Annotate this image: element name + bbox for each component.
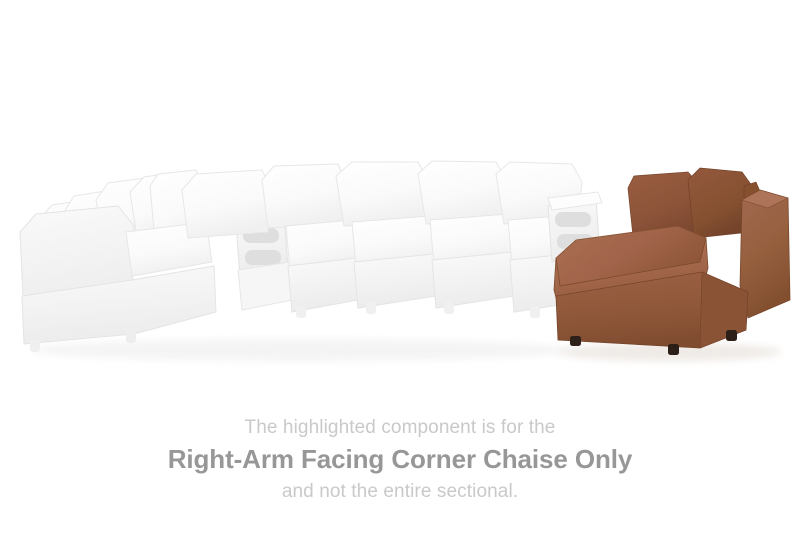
caption-line-top: The highlighted component is for the xyxy=(0,415,800,441)
ghost-base-center xyxy=(432,252,514,308)
sectional-svg xyxy=(0,0,800,400)
ghost-back-cushion-mid-1 xyxy=(182,170,272,238)
ghosted-sectional-group xyxy=(20,161,602,361)
ghost-foot-right xyxy=(530,306,540,318)
ghost-foot-left-2 xyxy=(126,330,136,343)
product-image-canvas: The highlighted component is for the Rig… xyxy=(0,0,800,533)
ghost-foot-corner xyxy=(366,302,376,314)
chaise-foot-3 xyxy=(726,330,737,341)
chaise-foot-2 xyxy=(668,344,679,355)
caption-line-component-name: Right-Arm Facing Corner Chaise Only xyxy=(0,441,800,477)
chaise-foot-1 xyxy=(570,336,581,346)
ghost-foot-left-1 xyxy=(30,340,40,352)
ghost-foot-mid-1 xyxy=(296,306,306,318)
ghost-base-corner xyxy=(354,254,436,308)
caption-line-bottom: and not the entire sectional. xyxy=(0,479,800,505)
cup-holder-icon-right-1 xyxy=(555,212,591,227)
ghost-base-mid-1 xyxy=(288,258,358,312)
ghost-console-left-base xyxy=(238,262,292,310)
caption-block: The highlighted component is for the Rig… xyxy=(0,415,800,505)
ghost-back-cushion-center xyxy=(418,161,506,224)
ghost-back-cushion-mid-2 xyxy=(262,164,346,228)
cup-holder-icon-left-2 xyxy=(245,250,281,265)
ghost-shadow xyxy=(30,339,570,361)
ghost-back-cushion-corner xyxy=(336,162,428,226)
sectional-illustration xyxy=(0,0,800,400)
ghost-foot-center xyxy=(444,302,454,314)
